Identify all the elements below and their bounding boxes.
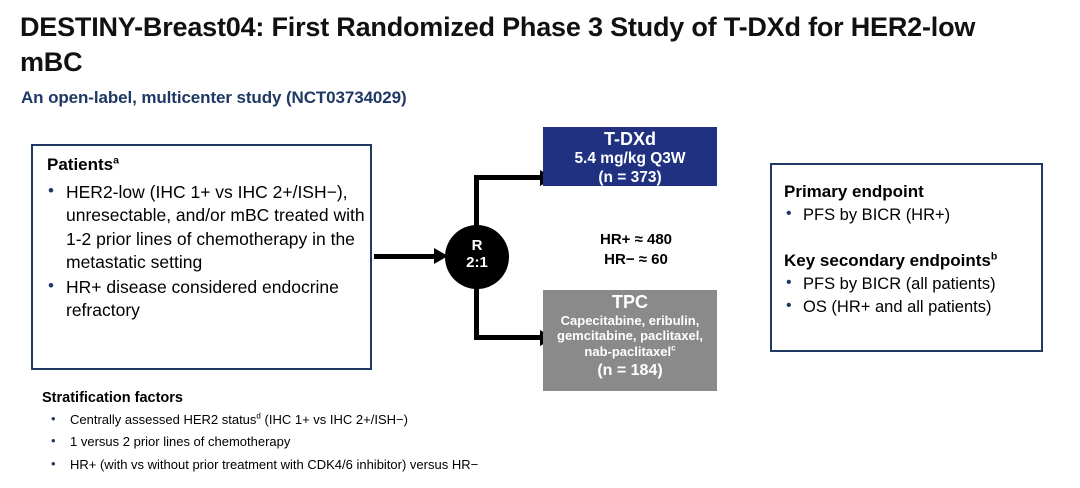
- tpc-drug-list: Capecitabine, eribulin, gemcitabine, pac…: [543, 313, 717, 360]
- tpc-drug-list-superscript: c: [671, 344, 675, 353]
- patients-box: Patientsa HER2-low (IHC 1+ vs IHC 2+/ISH…: [31, 144, 372, 370]
- secondary-endpoint-heading-superscript: b: [991, 250, 997, 262]
- randomization-flow: R 2:1: [370, 120, 570, 400]
- list-item: HR+ disease considered endocrine refract…: [43, 276, 365, 323]
- connector-branch-tdxd: [474, 175, 542, 180]
- tpc-name: TPC: [543, 292, 717, 313]
- secondary-endpoint-heading: Key secondary endpointsb: [772, 227, 1041, 273]
- stratification-item-text: 1 versus 2 prior lines of chemotherapy: [70, 434, 290, 449]
- tdxd-dose: 5.4 mg/kg Q3W: [543, 150, 717, 168]
- tpc-drug-list-text: Capecitabine, eribulin, gemcitabine, pac…: [557, 313, 703, 359]
- hr-positive-count: HR+ ≈ 480: [566, 230, 706, 250]
- secondary-endpoint-list: PFS by BICR (all patients) OS (HR+ and a…: [772, 273, 1041, 319]
- tpc-sample-size: (n = 184): [543, 360, 717, 381]
- patients-heading: Patientsa: [47, 155, 119, 175]
- endpoints-box: Primary endpoint PFS by BICR (HR+) Key s…: [770, 163, 1043, 352]
- list-item: HR+ (with vs without prior treatment wit…: [42, 454, 602, 476]
- secondary-endpoint-heading-label: Key secondary endpoints: [784, 251, 991, 270]
- patients-heading-label: Patients: [47, 155, 113, 174]
- hr-negative-count: HR− ≈ 60: [566, 250, 706, 270]
- slide-canvas: DESTINY-Breast04: First Randomized Phase…: [0, 0, 1080, 488]
- treatment-arm-tpc: TPC Capecitabine, eribulin, gemcitabine,…: [543, 290, 717, 391]
- list-item: Centrally assessed HER2 statusd (IHC 1+ …: [42, 409, 602, 431]
- page-title: DESTINY-Breast04: First Randomized Phase…: [20, 10, 1030, 79]
- stratification-item-text-after: (IHC 1+ vs IHC 2+/ISH−): [261, 412, 408, 427]
- patients-bullet-list: HER2-low (IHC 1+ vs IHC 2+/ISH−), unrese…: [43, 181, 365, 325]
- tdxd-name: T-DXd: [543, 129, 717, 150]
- hr-split-annotation: HR+ ≈ 480 HR− ≈ 60: [566, 230, 706, 270]
- tdxd-sample-size: (n = 373): [543, 169, 717, 187]
- connector-stem-down: [474, 280, 479, 340]
- randomization-label: R: [445, 238, 509, 255]
- connector-branch-tpc: [474, 335, 542, 340]
- stratification-list: Centrally assessed HER2 statusd (IHC 1+ …: [42, 409, 602, 476]
- treatment-arm-tdxd: T-DXd 5.4 mg/kg Q3W (n = 373): [543, 127, 717, 186]
- primary-endpoint-list: PFS by BICR (HR+): [772, 204, 1041, 227]
- arrow-into-randomization: [374, 254, 436, 259]
- page-subtitle: An open-label, multicenter study (NCT037…: [21, 88, 407, 108]
- list-item: PFS by BICR (HR+): [782, 204, 1041, 227]
- list-item: OS (HR+ and all patients): [782, 296, 1041, 319]
- stratification-heading: Stratification factors: [42, 390, 602, 406]
- patients-heading-superscript: a: [113, 154, 119, 166]
- stratification-factors: Stratification factors Centrally assesse…: [42, 390, 602, 476]
- list-item: 1 versus 2 prior lines of chemotherapy: [42, 431, 602, 453]
- stratification-item-text: Centrally assessed HER2 status: [70, 412, 256, 427]
- connector-stem-up: [474, 175, 479, 233]
- primary-endpoint-heading: Primary endpoint: [772, 165, 1041, 204]
- list-item: PFS by BICR (all patients): [782, 273, 1041, 296]
- stratification-item-text: HR+ (with vs without prior treatment wit…: [70, 457, 478, 472]
- randomization-ratio: 2:1: [445, 255, 509, 272]
- list-item: HER2-low (IHC 1+ vs IHC 2+/ISH−), unrese…: [43, 181, 365, 274]
